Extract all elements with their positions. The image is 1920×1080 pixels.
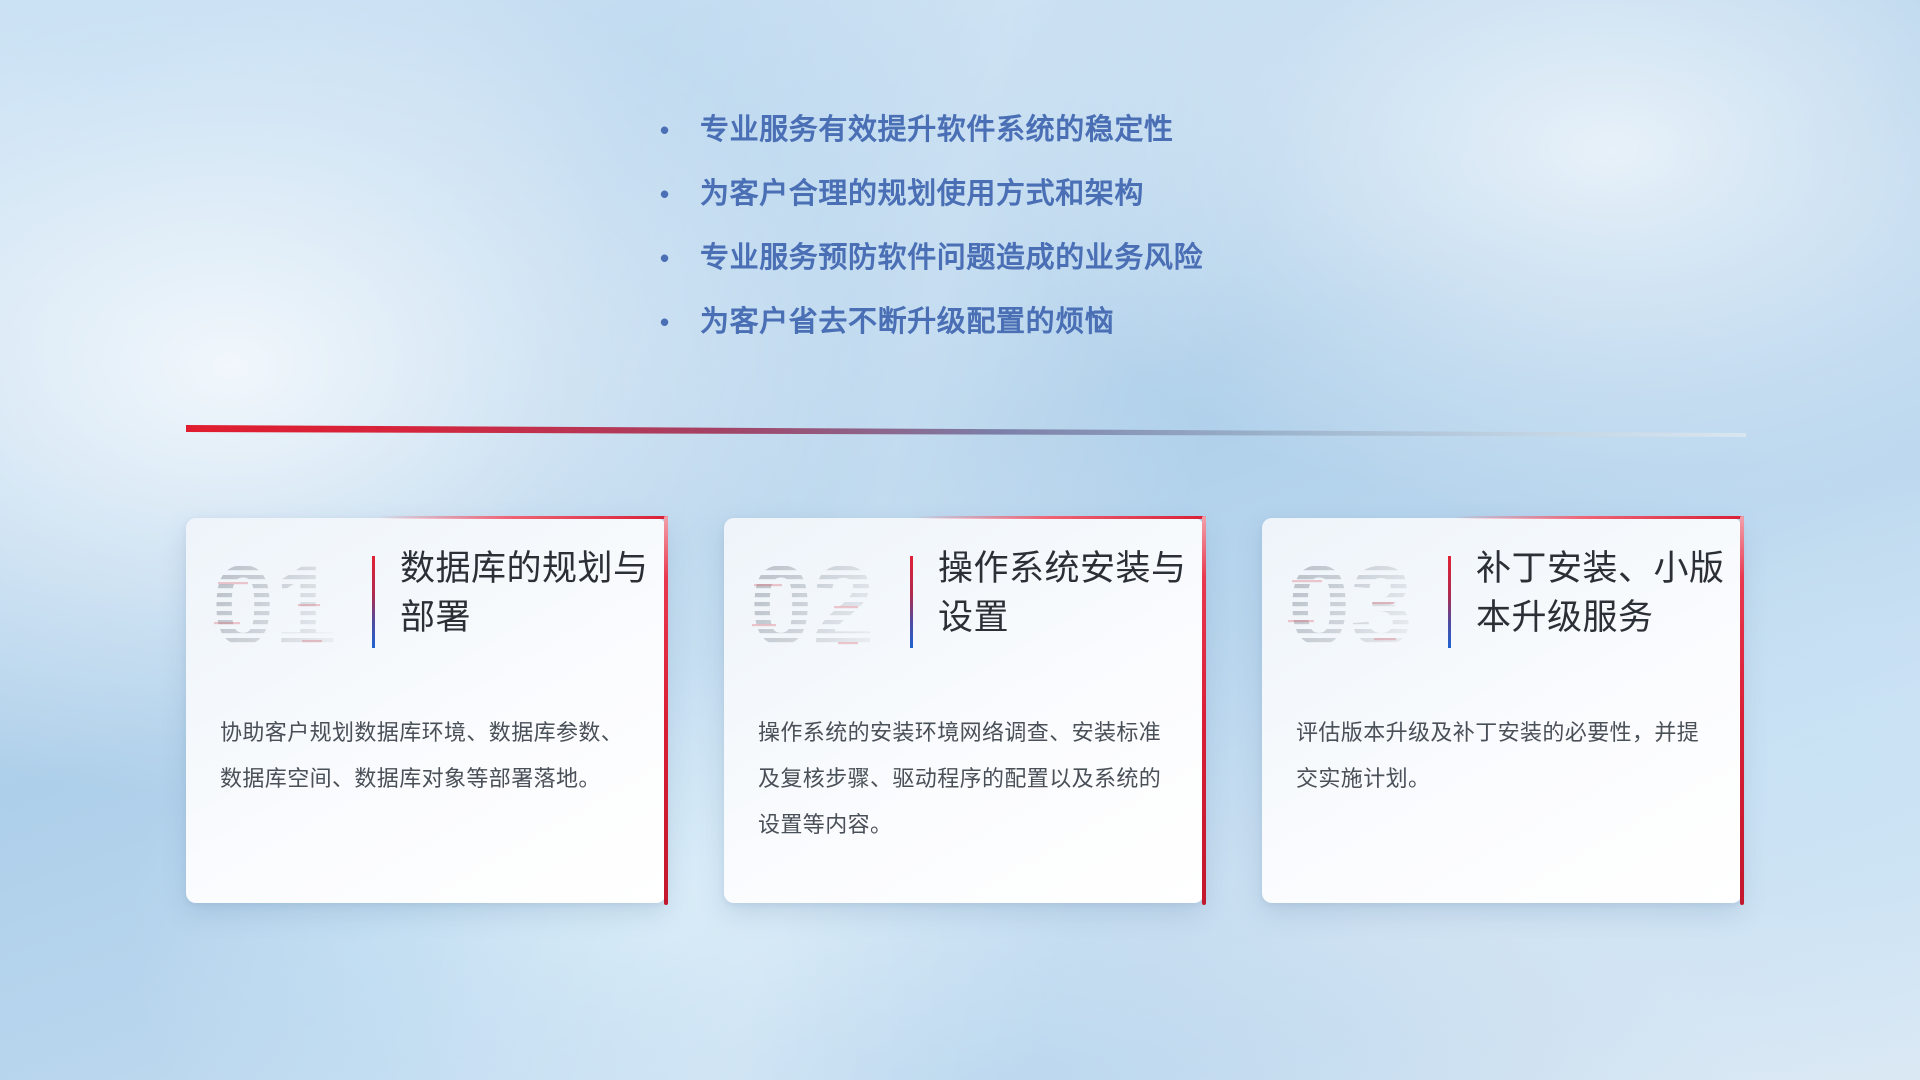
- card-accent-bar: [664, 516, 668, 905]
- card-description: 评估版本升级及补丁安装的必要性，并提交实施计划。: [1296, 710, 1716, 802]
- list-item: • 专业服务预防软件问题造成的业务风险: [660, 238, 1460, 302]
- card-surface: 01 数据库的规划与部署 协助客户规划数据库环境、数据库参数、数据库空间、数据库…: [186, 518, 666, 903]
- card-title-divider: [372, 556, 375, 648]
- number-stripe-icon: 02: [748, 548, 898, 666]
- card-accent-top-edge: [378, 516, 668, 519]
- bullet-dot-icon: •: [660, 238, 700, 278]
- card-title: 补丁安装、小版本升级服务: [1476, 544, 1726, 642]
- card-surface: 03 补丁安装、小版本升级服务 评估版本升级及补丁安装的必要性，并提交实施计划。: [1262, 518, 1742, 903]
- bullet-text: 为客户合理的规划使用方式和架构: [700, 174, 1144, 214]
- card-number-watermark: 03: [1286, 548, 1436, 666]
- service-card-group: 01 数据库的规划与部署 协助客户规划数据库环境、数据库参数、数据库空间、数据库…: [186, 518, 1742, 903]
- number-glyph: 01: [212, 548, 337, 666]
- bullet-text: 为客户省去不断升级配置的烦恼: [700, 302, 1114, 342]
- list-item: • 专业服务有效提升软件系统的稳定性: [660, 110, 1460, 174]
- card-accent-top-edge: [1454, 516, 1744, 519]
- card-header: 03 补丁安装、小版本升级服务: [1262, 542, 1742, 672]
- card-accent-top-edge: [916, 516, 1206, 519]
- service-card[interactable]: 01 数据库的规划与部署 协助客户规划数据库环境、数据库参数、数据库空间、数据库…: [186, 518, 666, 903]
- card-header: 02 操作系统安装与设置: [724, 542, 1204, 672]
- card-title-divider: [1448, 556, 1451, 648]
- card-accent-bar: [1740, 516, 1744, 905]
- card-description: 操作系统的安装环境网络调查、安装标准及复核步骤、驱动程序的配置以及系统的设置等内…: [758, 710, 1178, 848]
- bullet-dot-icon: •: [660, 174, 700, 214]
- card-description: 协助客户规划数据库环境、数据库参数、数据库空间、数据库对象等部署落地。: [220, 710, 640, 802]
- card-accent-bar: [1202, 516, 1206, 905]
- card-header: 01 数据库的规划与部署: [186, 542, 666, 672]
- service-card[interactable]: 02 操作系统安装与设置 操作系统的安装环境网络调查、安装标准及复核步骤、驱动程…: [724, 518, 1204, 903]
- card-title: 操作系统安装与设置: [938, 544, 1188, 642]
- card-surface: 02 操作系统安装与设置 操作系统的安装环境网络调查、安装标准及复核步骤、驱动程…: [724, 518, 1204, 903]
- number-glyph: 03: [1288, 548, 1413, 666]
- divider-line-icon: [186, 424, 1746, 438]
- number-stripe-icon: 01: [210, 548, 360, 666]
- bullet-text: 专业服务有效提升软件系统的稳定性: [700, 110, 1174, 150]
- card-number-watermark: 01: [210, 548, 360, 666]
- card-title: 数据库的规划与部署: [400, 544, 650, 642]
- service-card[interactable]: 03 补丁安装、小版本升级服务 评估版本升级及补丁安装的必要性，并提交实施计划。: [1262, 518, 1742, 903]
- bullet-dot-icon: •: [660, 110, 700, 150]
- bullet-text: 专业服务预防软件问题造成的业务风险: [700, 238, 1203, 278]
- list-item: • 为客户省去不断升级配置的烦恼: [660, 302, 1460, 366]
- benefits-bullet-list: • 专业服务有效提升软件系统的稳定性 • 为客户合理的规划使用方式和架构 • 专…: [660, 110, 1460, 366]
- section-divider: [186, 424, 1746, 438]
- bullet-dot-icon: •: [660, 302, 700, 342]
- list-item: • 为客户合理的规划使用方式和架构: [660, 174, 1460, 238]
- card-title-divider: [910, 556, 913, 648]
- card-number-watermark: 02: [748, 548, 898, 666]
- number-stripe-icon: 03: [1286, 548, 1436, 666]
